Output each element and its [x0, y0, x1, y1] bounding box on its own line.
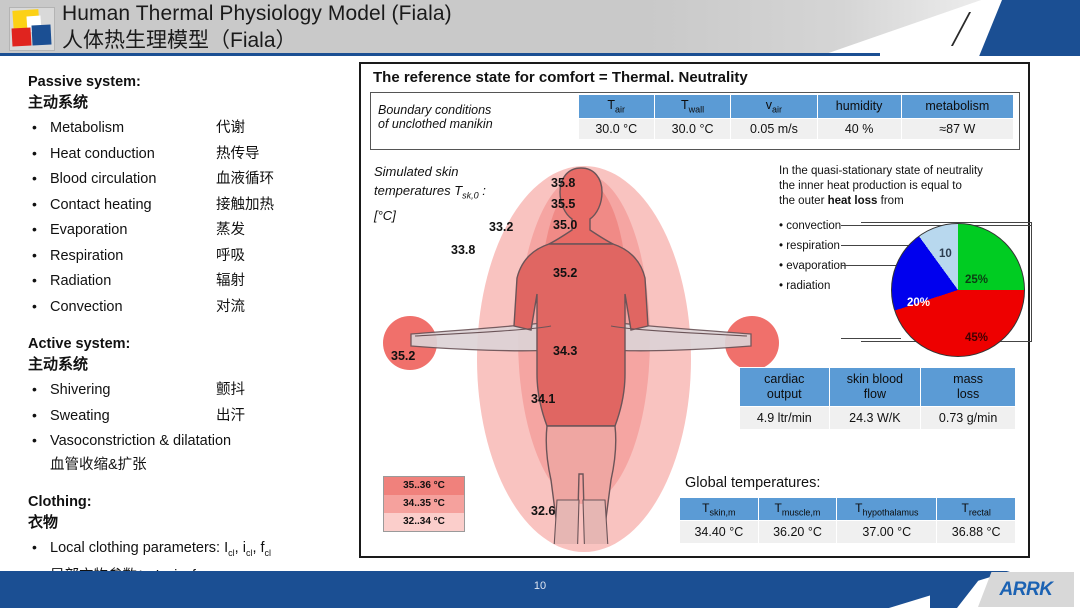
cell-t-hypothalamus: 37.00 °C [837, 521, 937, 544]
list-item: • Contact heating 接触加热 [28, 192, 358, 218]
temp-label-head-mid: 35.5 [551, 197, 575, 211]
vasoconstriction-label-zh: 血管收缩&扩张 [28, 454, 358, 477]
list-item-label-zh: 血液循环 [216, 167, 274, 192]
list-item-convection: • convection [779, 216, 846, 236]
temp-label-hand-left: 35.2 [391, 349, 415, 363]
bullet-icon: • [28, 294, 50, 319]
temp-label-foot: 32.6 [531, 504, 555, 518]
page-title: Human Thermal Physiology Model (Fiala) 人… [62, 1, 452, 54]
list-item-label-en: Respiration [50, 244, 216, 269]
spacer [28, 319, 358, 334]
list-item: • Respiration 呼吸 [28, 243, 358, 269]
list-item: • Shivering 颤抖 [28, 377, 358, 403]
bullet-icon: • [28, 141, 50, 166]
heat-loss-pie-chart [891, 223, 1025, 357]
list-item-label-en: Vasoconstriction & dilatation [50, 429, 231, 454]
bullet-icon: • [28, 428, 50, 453]
temp-label-neck: 35.0 [553, 218, 577, 232]
temp-label-torso: 35.2 [553, 266, 577, 280]
cell-t-muscle-m: 36.20 °C [758, 521, 837, 544]
logo-blue-square [31, 25, 51, 46]
list-item-label-zh: 热传导 [216, 142, 260, 167]
col-header-skin-blood-flow: skin bloodflow [829, 368, 921, 407]
list-item-label-zh: 颤抖 [216, 378, 245, 403]
bullet-icon: • [28, 535, 50, 560]
cardiac-output-table: cardiacoutput skin bloodflow massloss 4.… [739, 367, 1016, 430]
param-I-cl: Icl [224, 540, 235, 556]
list-item: • Heat conduction 热传导 [28, 141, 358, 167]
list-item: • Evaporation 蒸发 [28, 217, 358, 243]
cell-skin-blood-flow: 24.3 W/K [829, 407, 921, 430]
cell-v-air: 0.05 m/s [731, 118, 817, 139]
list-item-evaporation: • evaporation [779, 256, 846, 276]
temp-label-lower-leg: 34.1 [531, 392, 555, 406]
table-row: Boundary conditions of unclothed manikin… [374, 95, 1014, 119]
left-content-column: Passive system: 主动系统 • Metabolism 代谢 • H… [28, 72, 358, 593]
header-underline [0, 53, 880, 56]
list-item: • Convection 对流 [28, 294, 358, 320]
col-header-cardiac-output: cardiacoutput [740, 368, 830, 407]
cell-t-rectal: 36.88 °C [937, 521, 1016, 544]
col-header-t-skin-m: Tskin,m [680, 498, 759, 521]
cell-cardiac-output: 4.9 ltr/min [740, 407, 830, 430]
global-temperatures-table: Tskin,m Tmuscle,m Thypothalamus Trectal … [679, 497, 1016, 544]
slide-header: Human Thermal Physiology Model (Fiala) 人… [0, 0, 1080, 56]
table-row: cardiacoutput skin bloodflow massloss [740, 368, 1016, 407]
list-item-label-zh: 蒸发 [216, 218, 245, 243]
list-item-label-zh: 辐射 [216, 269, 245, 294]
cell-t-wall: 30.0 °C [654, 118, 730, 139]
list-item-respiration: • respiration [779, 236, 846, 256]
active-system-heading-zh: 主动系统 [28, 354, 358, 376]
bc-label-line1: Boundary conditions [378, 103, 572, 117]
page-number: 10 [0, 580, 1080, 592]
passive-system-heading-en: Passive system: [28, 72, 358, 92]
list-item-label-en: Shivering [50, 378, 216, 403]
boundary-conditions-table: Boundary conditions of unclothed manikin… [374, 94, 1014, 140]
bullet-icon: • [28, 268, 50, 293]
list-item: • Sweating 出汗 [28, 403, 358, 429]
spacer [28, 477, 358, 492]
list-item-label-zh: 代谢 [216, 116, 245, 141]
title-chinese: 人体热生理模型（Fiala） [62, 27, 452, 54]
arrk-square-logo [9, 7, 55, 51]
bullet-icon: • [28, 377, 50, 402]
cell-humidity: 40 % [817, 118, 901, 139]
list-item-label-en: Blood circulation [50, 167, 216, 192]
list-item-label-en: Metabolism [50, 116, 216, 141]
active-system-heading-en: Active system: [28, 334, 358, 354]
list-item-label-en: Heat conduction [50, 142, 216, 167]
logo-red-square [12, 28, 32, 47]
list-item: • Blood circulation 血液循环 [28, 166, 358, 192]
slide-footer: 10 ARRK [0, 571, 1080, 608]
bullet-icon: • [28, 217, 50, 242]
col-header-humidity: humidity [817, 95, 901, 119]
clothing-params-en: Local clothing parameters: Icl, icl, fcl [50, 536, 271, 565]
heat-loss-explanation: In the quasi-stationary state of neutral… [779, 164, 1019, 209]
cell-t-skin-m: 34.40 °C [680, 521, 759, 544]
list-item-label-en: Radiation [50, 269, 216, 294]
col-header-v-air: vair [731, 95, 817, 119]
col-header-metabolism: metabolism [901, 95, 1013, 119]
list-item-label-en: Evaporation [50, 218, 216, 243]
bullet-icon: • [28, 192, 50, 217]
bullet-icon: • [28, 166, 50, 191]
cell-mass-loss: 0.73 g/min [921, 407, 1016, 430]
list-item: • Radiation 辐射 [28, 268, 358, 294]
legend-band-35-36: 35..36 °C [384, 477, 464, 495]
heat-loss-mechanism-list: • convection • respiration • evaporation… [779, 216, 846, 296]
col-header-t-wall: Twall [654, 95, 730, 119]
panel-title: The reference state for comfort = Therma… [373, 69, 748, 86]
leader-line-radiation [841, 338, 901, 339]
arrk-wordmark-text: ARRK [1000, 579, 1053, 601]
pie-label-evaporation: 45% [965, 332, 988, 344]
title-english: Human Thermal Physiology Model (Fiala) [62, 1, 452, 27]
param-f-cl: fcl [261, 540, 272, 556]
table-row: 34.40 °C 36.20 °C 37.00 °C 36.88 °C [680, 521, 1016, 544]
col-header-t-hypothalamus: Thypothalamus [837, 498, 937, 521]
heat-loss-line2: the inner heat production is equal to [779, 179, 1019, 194]
list-item-label-en: Contact heating [50, 193, 216, 218]
passive-system-heading-zh: 主动系统 [28, 92, 358, 114]
temp-label-thigh: 34.3 [553, 344, 577, 358]
global-temperatures-title: Global temperatures: [685, 475, 820, 491]
list-item: • Metabolism 代谢 [28, 115, 358, 141]
list-item-radiation: • radiation [779, 276, 846, 296]
clothing-params-prefix-en: Local clothing parameters: [50, 540, 220, 556]
temperature-legend: 35..36 °C 34..35 °C 32..34 °C [383, 476, 465, 532]
list-item-label-zh: 接触加热 [216, 193, 274, 218]
list-item: • Local clothing parameters: Icl, icl, f… [28, 535, 358, 565]
pie-label-convection: 20% [907, 297, 930, 309]
list-item-label-en: Sweating [50, 404, 216, 429]
col-header-t-muscle-m: Tmuscle,m [758, 498, 837, 521]
clothing-heading-en: Clothing: [28, 492, 358, 512]
legend-band-34-35: 34..35 °C [384, 495, 464, 513]
col-header-t-air: Tair [578, 95, 654, 119]
temp-label-head-top: 35.8 [551, 176, 575, 190]
legend-band-32-34: 32..34 °C [384, 513, 464, 531]
list-item: • Vasoconstriction & dilatation [28, 428, 358, 454]
temp-label-arm: 33.8 [451, 243, 475, 257]
list-item-label-zh: 呼吸 [216, 244, 245, 269]
cell-metabolism: ≈87 W [901, 118, 1013, 139]
bc-label-line2: of unclothed manikin [378, 117, 572, 131]
pie-label-radiation: 25% [965, 274, 988, 286]
param-i-cl: icl [243, 540, 253, 556]
clothing-heading-zh: 衣物 [28, 512, 358, 534]
col-header-t-rectal: Trectal [937, 498, 1016, 521]
table-row: Tskin,m Tmuscle,m Thypothalamus Trectal [680, 498, 1016, 521]
list-item-label-en: Convection [50, 295, 216, 320]
temp-label-shoulder: 33.2 [489, 220, 513, 234]
list-item-label-zh: 出汗 [216, 404, 245, 429]
bullet-icon: • [28, 403, 50, 428]
table-row: 4.9 ltr/min 24.3 W/K 0.73 g/min [740, 407, 1016, 430]
bullet-icon: • [28, 115, 50, 140]
col-header-mass-loss: massloss [921, 368, 1016, 407]
bullet-icon: • [28, 243, 50, 268]
pie-label-respiration: 10 [939, 248, 952, 260]
heat-loss-line1: In the quasi-stationary state of neutral… [779, 164, 1019, 179]
heat-loss-line3: the outer heat loss from [779, 194, 1019, 209]
arrk-wordmark-logo: ARRK [978, 572, 1074, 607]
list-item-label-zh: 对流 [216, 295, 245, 320]
cell-t-air: 30.0 °C [578, 118, 654, 139]
boundary-conditions-label: Boundary conditions of unclothed manikin [374, 95, 578, 140]
reference-state-panel: The reference state for comfort = Therma… [359, 62, 1030, 558]
